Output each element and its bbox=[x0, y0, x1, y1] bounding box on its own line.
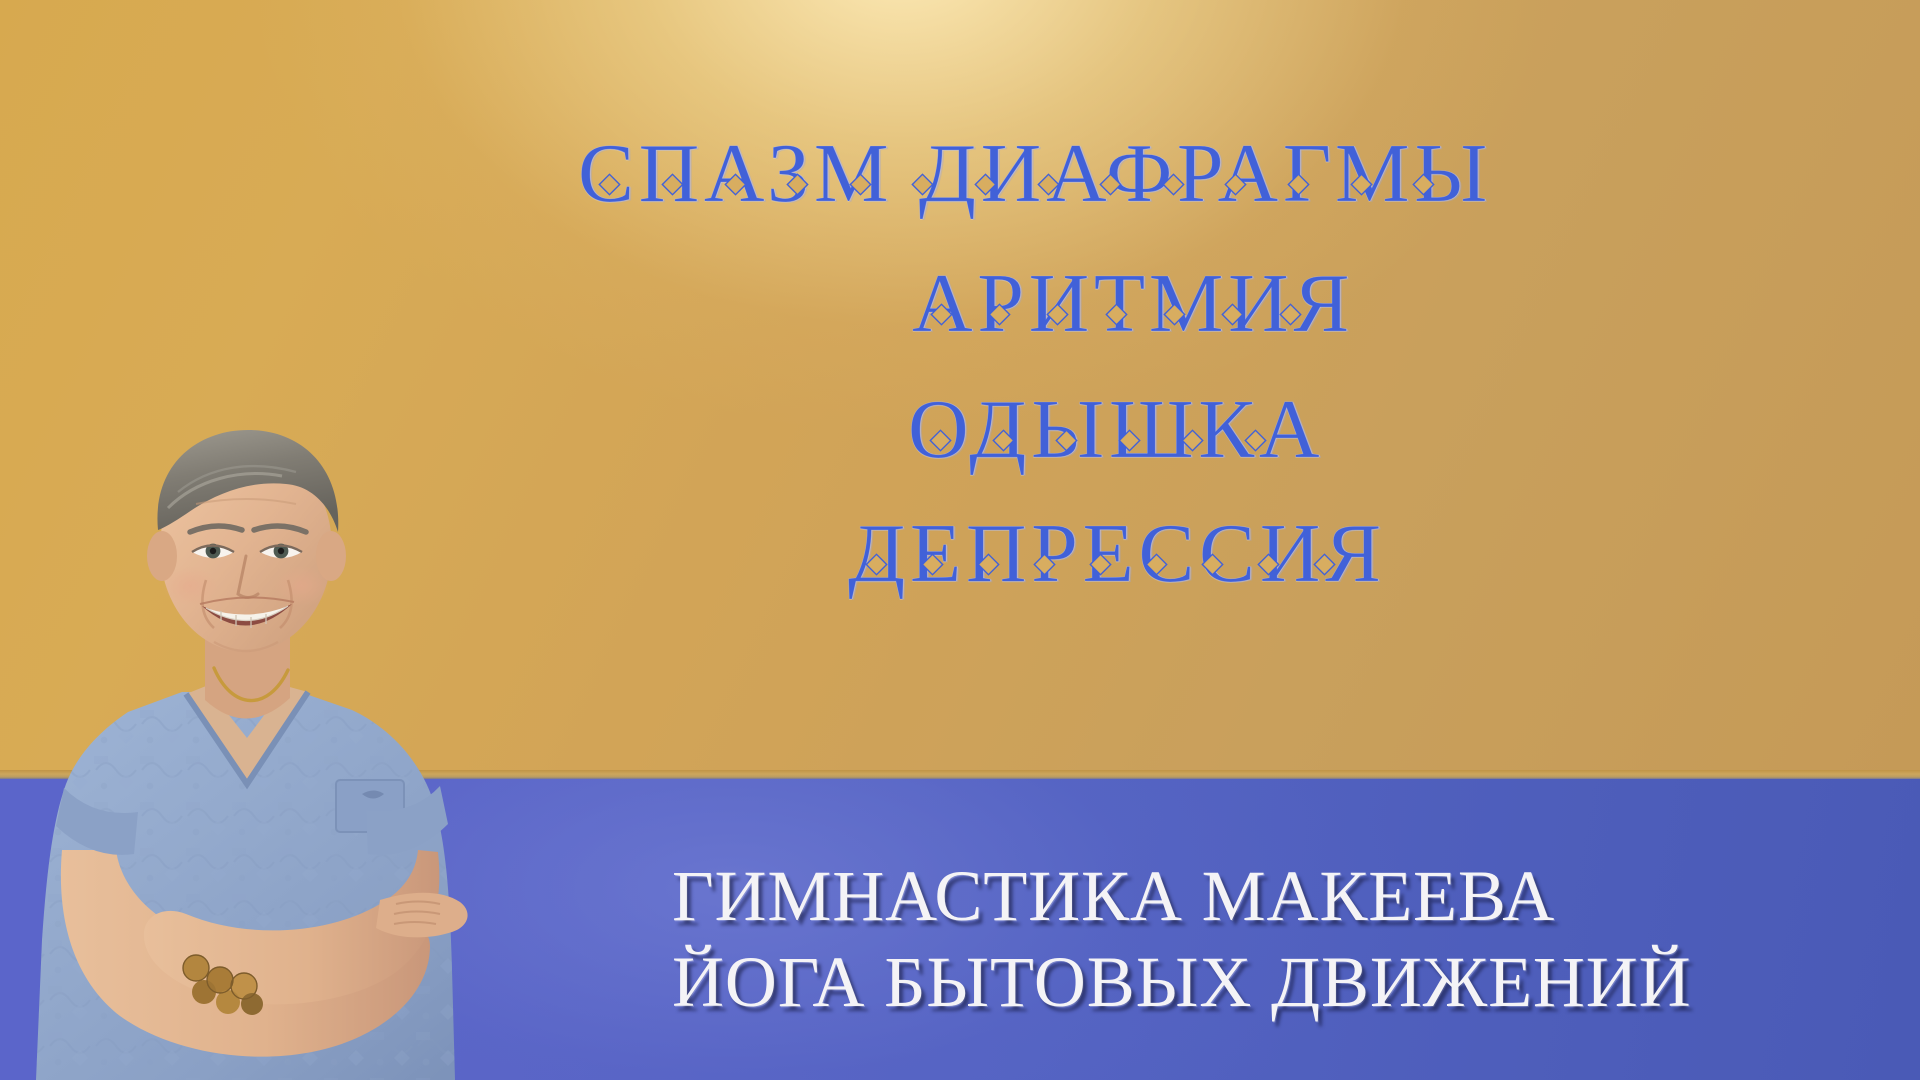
video-cover-canvas: СПАЗМ ДИАФРАГМЫ АРИТМИЯ ОДЫШКА ДЕПРЕССИЯ… bbox=[0, 0, 1920, 1080]
section-divider bbox=[0, 770, 1920, 779]
gold-background-panel bbox=[0, 0, 1920, 779]
brand-line-1: ГИМНАСТИКА МАКЕЕВА bbox=[672, 860, 1555, 932]
brand-line-2: ЙОГА БЫТОВЫХ ДВИЖЕНИЙ bbox=[672, 946, 1692, 1018]
